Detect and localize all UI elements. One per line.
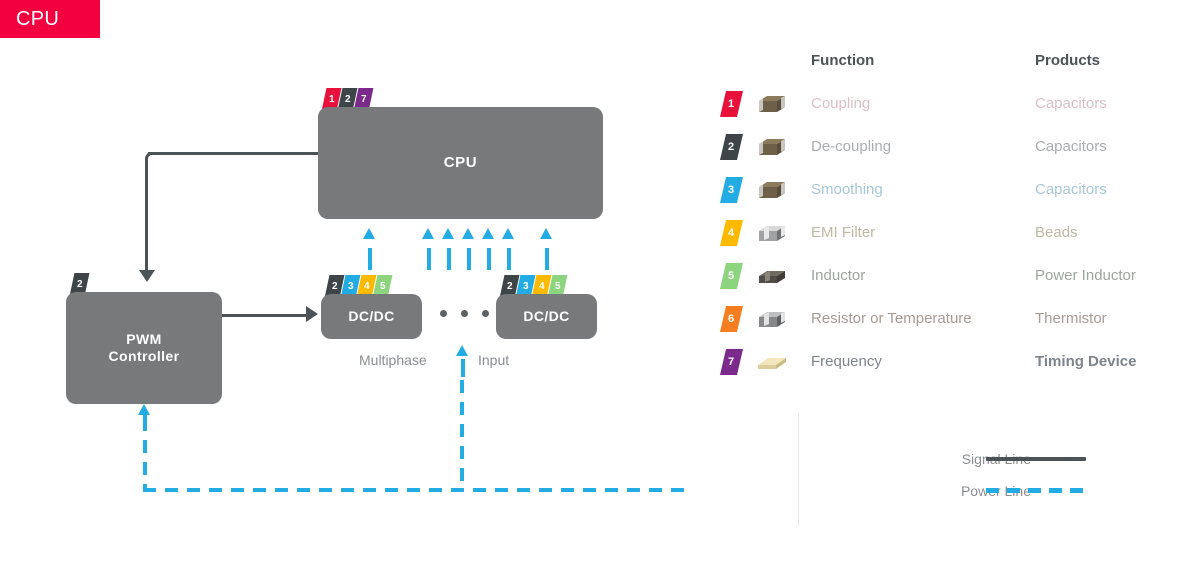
signal-arrowhead-dcdc — [306, 306, 318, 322]
legend-product-text: Capacitors — [1035, 181, 1107, 198]
power-arrow-cpu-2 — [422, 228, 435, 270]
timing-device-icon — [755, 351, 789, 375]
legend-tag-1: 1 — [723, 91, 740, 117]
block-pwm-label-line2: Controller — [109, 348, 180, 366]
power-arrow-cpu-3 — [442, 228, 455, 270]
legend-tag-4: 4 — [723, 220, 740, 246]
resistor-icon — [755, 308, 789, 332]
power-arrow-cpu-1 — [363, 228, 376, 270]
power-arrow-pwm — [138, 404, 151, 420]
block-pwm-controller[interactable]: PWM Controller — [66, 292, 222, 404]
legend-function-text: Frequency — [811, 353, 882, 370]
block-cpu-label: CPU — [444, 154, 477, 173]
legend-function-text: Coupling — [811, 95, 870, 112]
inductor-icon — [755, 265, 789, 289]
legend-product-text: Timing Device — [1035, 353, 1136, 370]
legend-tag-3: 3 — [723, 177, 740, 203]
power-line-bottom-bus — [143, 488, 685, 492]
power-line-swatch — [986, 488, 1086, 493]
power-arrow-cpu-4 — [462, 228, 475, 270]
block-dcdc-2-label: DC/DC — [523, 308, 569, 326]
legend-header-products: Products — [1035, 52, 1100, 69]
block-dcdc-1-label: DC/DC — [348, 308, 394, 326]
legend-function-text: Inductor — [811, 267, 865, 284]
signal-line-swatch — [986, 457, 1086, 461]
ellipsis-dots — [440, 310, 489, 317]
block-dcdc-2[interactable]: DC/DC — [496, 294, 597, 339]
legend-function-text: De-coupling — [811, 138, 891, 155]
power-line-input-vertical — [460, 380, 464, 490]
bead-icon — [755, 222, 789, 246]
input-label: Input — [478, 352, 509, 368]
signal-line-down-to-pwm — [145, 158, 148, 270]
capacitor-icon — [755, 93, 789, 117]
legend-function-text: Smoothing — [811, 181, 883, 198]
legend-header-row: Function Products — [723, 45, 1193, 85]
legend-tag-7: 7 — [723, 349, 740, 375]
page-title-text: CPU — [16, 8, 59, 31]
legend-divider — [798, 413, 799, 526]
capacitor-icon — [755, 179, 789, 203]
legend-tag-2: 2 — [723, 134, 740, 160]
legend-product-text: Capacitors — [1035, 138, 1107, 155]
legend-product-text: Thermistor — [1035, 310, 1107, 327]
legend-table: Function Products 1 Coupling Capacitors … — [723, 45, 1193, 386]
signal-arrowhead-pwm — [139, 270, 155, 282]
legend-tag-6: 6 — [723, 306, 740, 332]
block-cpu[interactable]: CPU — [318, 107, 603, 219]
legend-row[interactable]: 6 Resistor or Temperature Thermistor — [723, 300, 1193, 343]
legend-row[interactable]: 4 EMI Filter Beads — [723, 214, 1193, 257]
diagram-canvas: CPU 1 2 7 CPU 2 PWM — [0, 0, 1200, 563]
power-line-pwm-vertical — [143, 418, 147, 490]
power-arrow-cpu-7 — [540, 228, 553, 270]
legend-row[interactable]: 7 Frequency Timing Device — [723, 343, 1193, 386]
power-arrow-input — [456, 345, 469, 377]
legend-row[interactable]: 1 Coupling Capacitors — [723, 85, 1193, 128]
power-arrow-cpu-5 — [482, 228, 495, 270]
capacitor-icon — [755, 136, 789, 160]
legend-row[interactable]: 2 De-coupling Capacitors — [723, 128, 1193, 171]
block-pwm-label-line1: PWM — [109, 331, 180, 349]
legend-row[interactable]: 3 Smoothing Capacitors — [723, 171, 1193, 214]
multiphase-label: Multiphase — [359, 352, 427, 368]
legend-product-text: Capacitors — [1035, 95, 1107, 112]
power-arrow-cpu-6 — [502, 228, 515, 270]
legend-tag-5: 5 — [723, 263, 740, 289]
legend-header-function: Function — [811, 52, 874, 69]
legend-product-text: Power Inductor — [1035, 267, 1136, 284]
block-dcdc-1[interactable]: DC/DC — [321, 294, 422, 339]
legend-function-text: EMI Filter — [811, 224, 875, 241]
legend-product-text: Beads — [1035, 224, 1078, 241]
signal-line-cpu-to-left — [148, 152, 320, 155]
legend-row[interactable]: 5 Inductor Power Inductor — [723, 257, 1193, 300]
signal-line-pwm-to-dcdc — [222, 314, 308, 317]
page-title-badge: CPU — [0, 0, 100, 38]
legend-function-text: Resistor or Temperature — [811, 310, 972, 327]
